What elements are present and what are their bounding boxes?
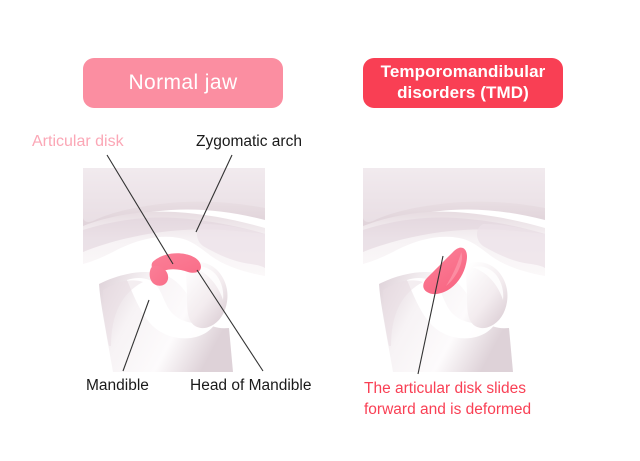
label-head-of-mandible: Head of Mandible bbox=[190, 377, 312, 395]
panel-title-normal-jaw-text: Normal jaw bbox=[128, 70, 237, 96]
panel-title-normal-jaw: Normal jaw bbox=[83, 58, 283, 108]
panel-title-tmd: Temporomandibular disorders (TMD) bbox=[363, 58, 563, 108]
label-zygomatic-arch: Zygomatic arch bbox=[196, 133, 302, 151]
tmd-jaw-illustration bbox=[363, 168, 545, 372]
caption-tmd: The articular disk slides forward and is… bbox=[364, 378, 531, 421]
normal-jaw-illustration bbox=[83, 168, 265, 372]
caption-tmd-line1: The articular disk slides bbox=[364, 380, 526, 397]
tmj-comparison-figure: Normal jaw Temporomandibular disorders (… bbox=[0, 0, 640, 461]
label-mandible: Mandible bbox=[86, 377, 149, 395]
caption-tmd-line2: forward and is deformed bbox=[364, 399, 531, 420]
panel-title-tmd-line1: Temporomandibular bbox=[381, 62, 546, 81]
panel-title-tmd-line2: disorders (TMD) bbox=[381, 83, 546, 104]
label-articular-disk: Articular disk bbox=[32, 133, 124, 151]
panel-title-tmd-text: Temporomandibular disorders (TMD) bbox=[381, 62, 546, 103]
